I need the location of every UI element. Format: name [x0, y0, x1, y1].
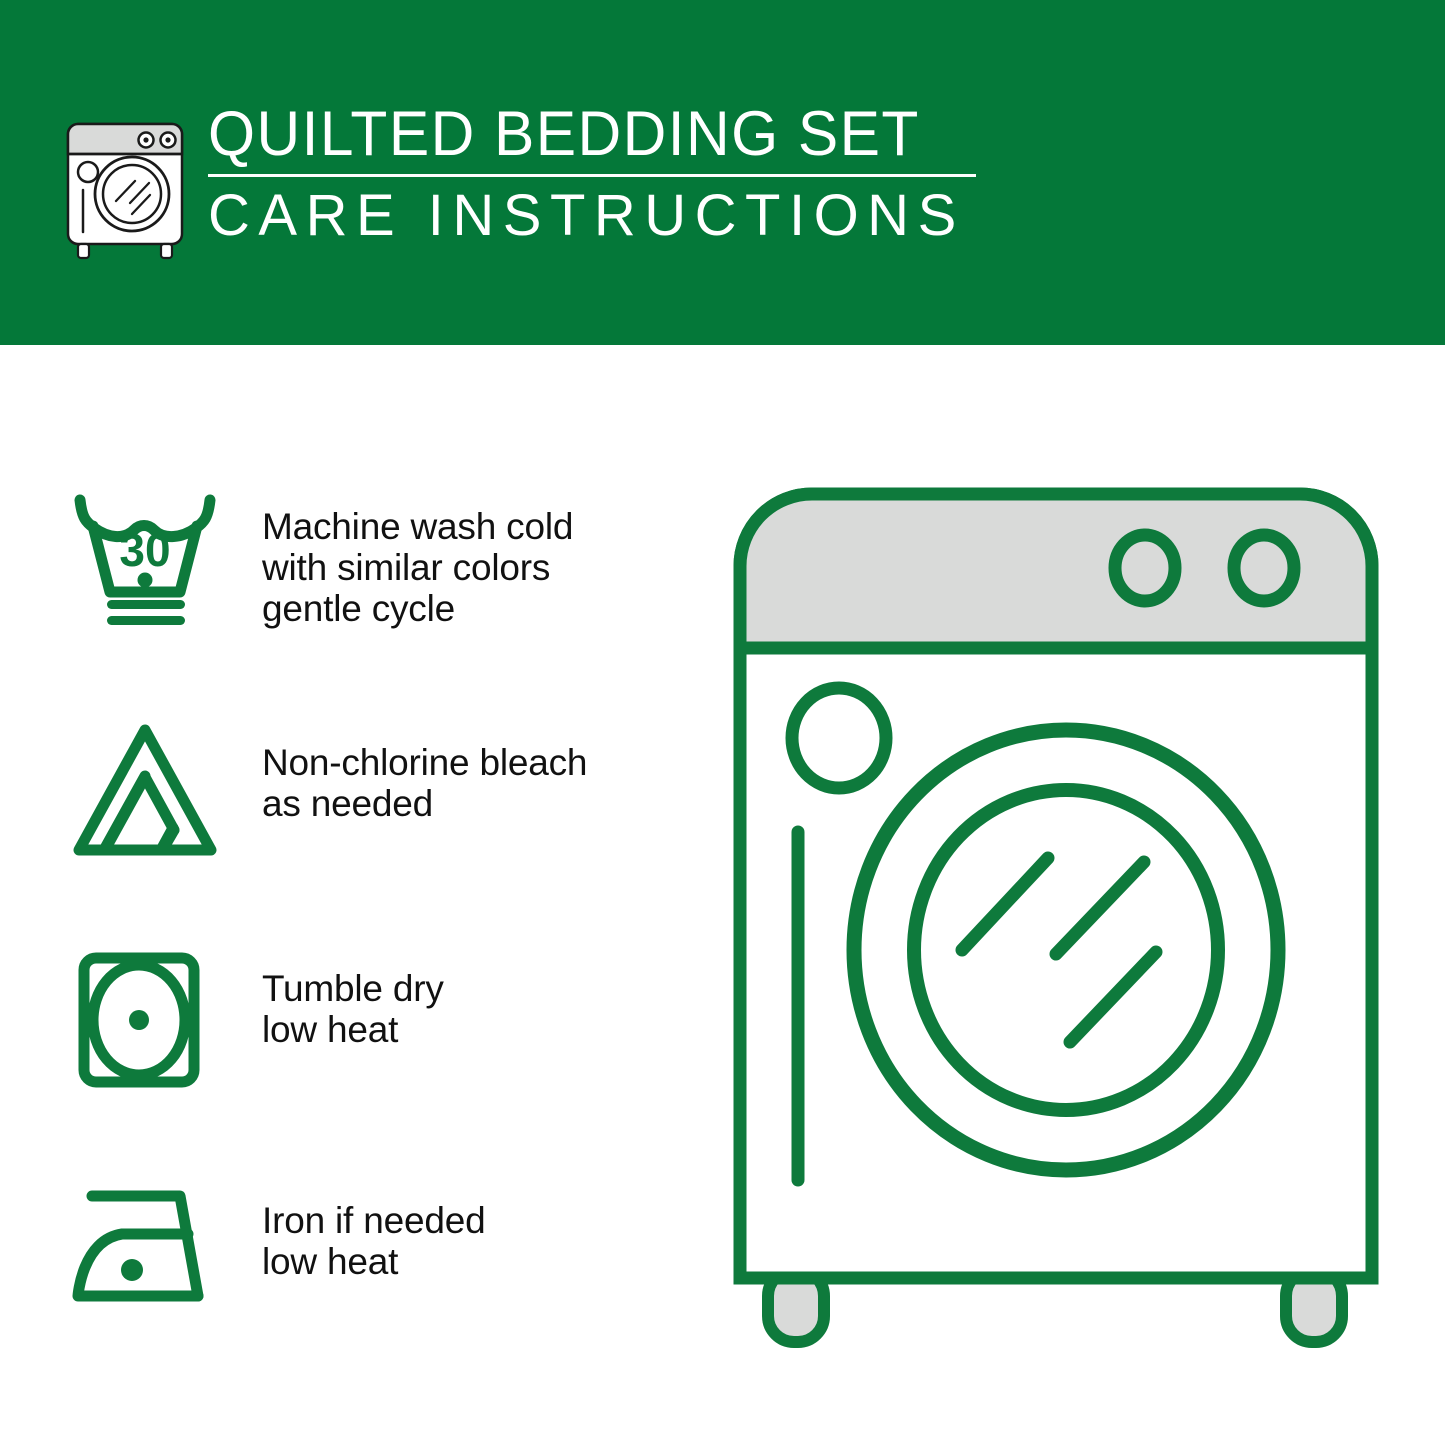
care-text-line: gentle cycle — [262, 588, 690, 629]
washing-machine-icon — [62, 102, 188, 260]
front-load-washing-machine-illustration — [726, 480, 1386, 1360]
care-text-iron: Iron if needed low heat — [240, 1172, 690, 1282]
care-text-line: Tumble dry — [262, 968, 690, 1009]
care-text-line: Machine wash cold — [262, 506, 690, 547]
care-text-machine-wash: Machine wash cold with similar colors ge… — [240, 488, 690, 629]
wash-temperature-label: 30 — [119, 524, 170, 576]
header-band: QUILTED BEDDING SET CARE INSTRUCTIONS — [0, 0, 1445, 345]
care-row-iron: Iron if needed low heat — [70, 1172, 690, 1400]
care-text-line: as needed — [262, 783, 690, 824]
triangle-non-chlorine-bleach-icon — [70, 716, 240, 872]
header-text-group: QUILTED BEDDING SET CARE INSTRUCTIONS — [208, 98, 1048, 249]
care-row-bleach: Non-chlorine bleach as needed — [70, 716, 690, 944]
care-instructions-page: QUILTED BEDDING SET CARE INSTRUCTIONS 30 — [0, 0, 1445, 1445]
iron-low-heat-icon — [70, 1172, 240, 1328]
care-text-tumble-dry: Tumble dry low heat — [240, 944, 690, 1050]
care-text-line: with similar colors — [262, 547, 690, 588]
care-text-line: Non-chlorine bleach — [262, 742, 690, 783]
tumble-dry-low-heat-icon — [70, 944, 240, 1100]
care-instruction-list: 30 Machine wash cold with similar colors… — [70, 488, 690, 1400]
title-divider — [208, 174, 976, 177]
header-inner: QUILTED BEDDING SET CARE INSTRUCTIONS — [62, 98, 992, 268]
care-text-line: low heat — [262, 1241, 690, 1282]
page-title: QUILTED BEDDING SET — [208, 98, 1014, 170]
page-subtitle: CARE INSTRUCTIONS — [208, 183, 1048, 249]
care-text-bleach: Non-chlorine bleach as needed — [240, 716, 690, 824]
care-text-line: Iron if needed — [262, 1200, 690, 1241]
wash-tub-30-gentle-icon: 30 — [70, 488, 240, 638]
care-text-line: low heat — [262, 1009, 690, 1050]
care-row-machine-wash: 30 Machine wash cold with similar colors… — [70, 488, 690, 716]
care-row-tumble-dry: Tumble dry low heat — [70, 944, 690, 1172]
